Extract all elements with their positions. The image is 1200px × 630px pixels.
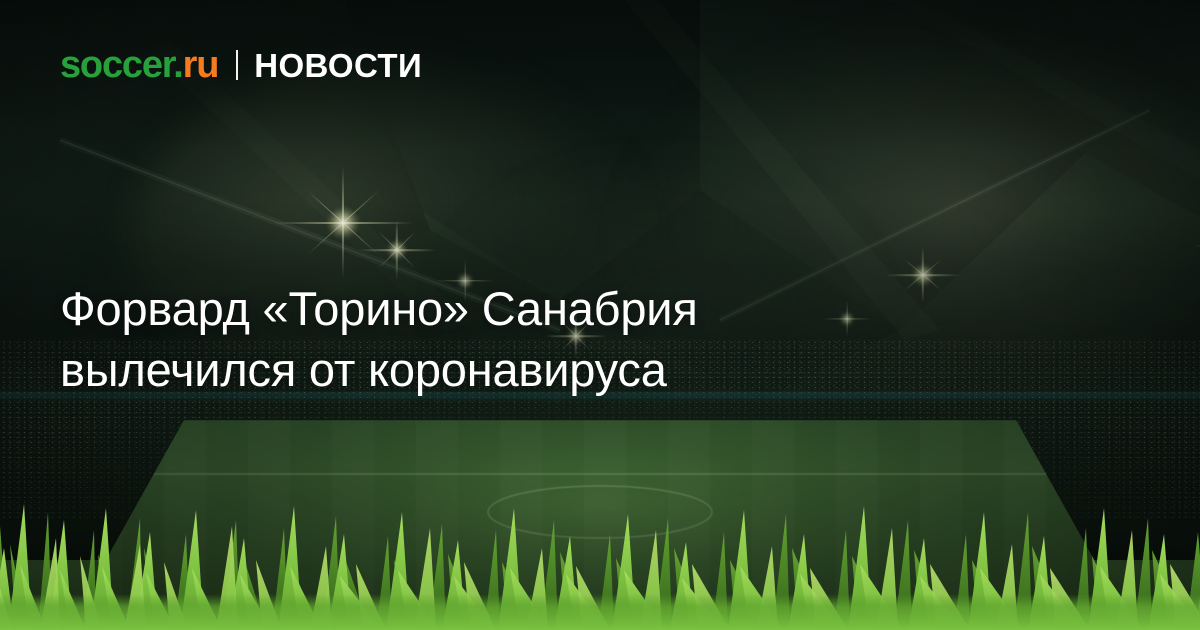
header-divider: [236, 50, 238, 80]
logo-name-primary: soccer: [60, 44, 173, 86]
pitch-surface: [80, 420, 1120, 630]
pitch-area: [0, 420, 1200, 630]
headline-line-1: Форвард «Торино» Санабрия: [60, 279, 960, 339]
section-label: НОВОСТИ: [254, 49, 422, 82]
site-header: soccer.ru НОВОСТИ: [60, 46, 422, 84]
logo-dot: .: [173, 44, 182, 86]
news-share-card: soccer.ru НОВОСТИ Форвард «Торино» Санаб…: [0, 0, 1200, 630]
headline-line-2: вылечился от коронавируса: [60, 340, 960, 400]
logo-tld: ru: [183, 44, 219, 86]
article-headline: Форвард «Торино» Санабрия вылечился от к…: [60, 279, 960, 399]
site-logo[interactable]: soccer.ru: [60, 46, 218, 84]
pitch-markings: [80, 420, 1120, 630]
